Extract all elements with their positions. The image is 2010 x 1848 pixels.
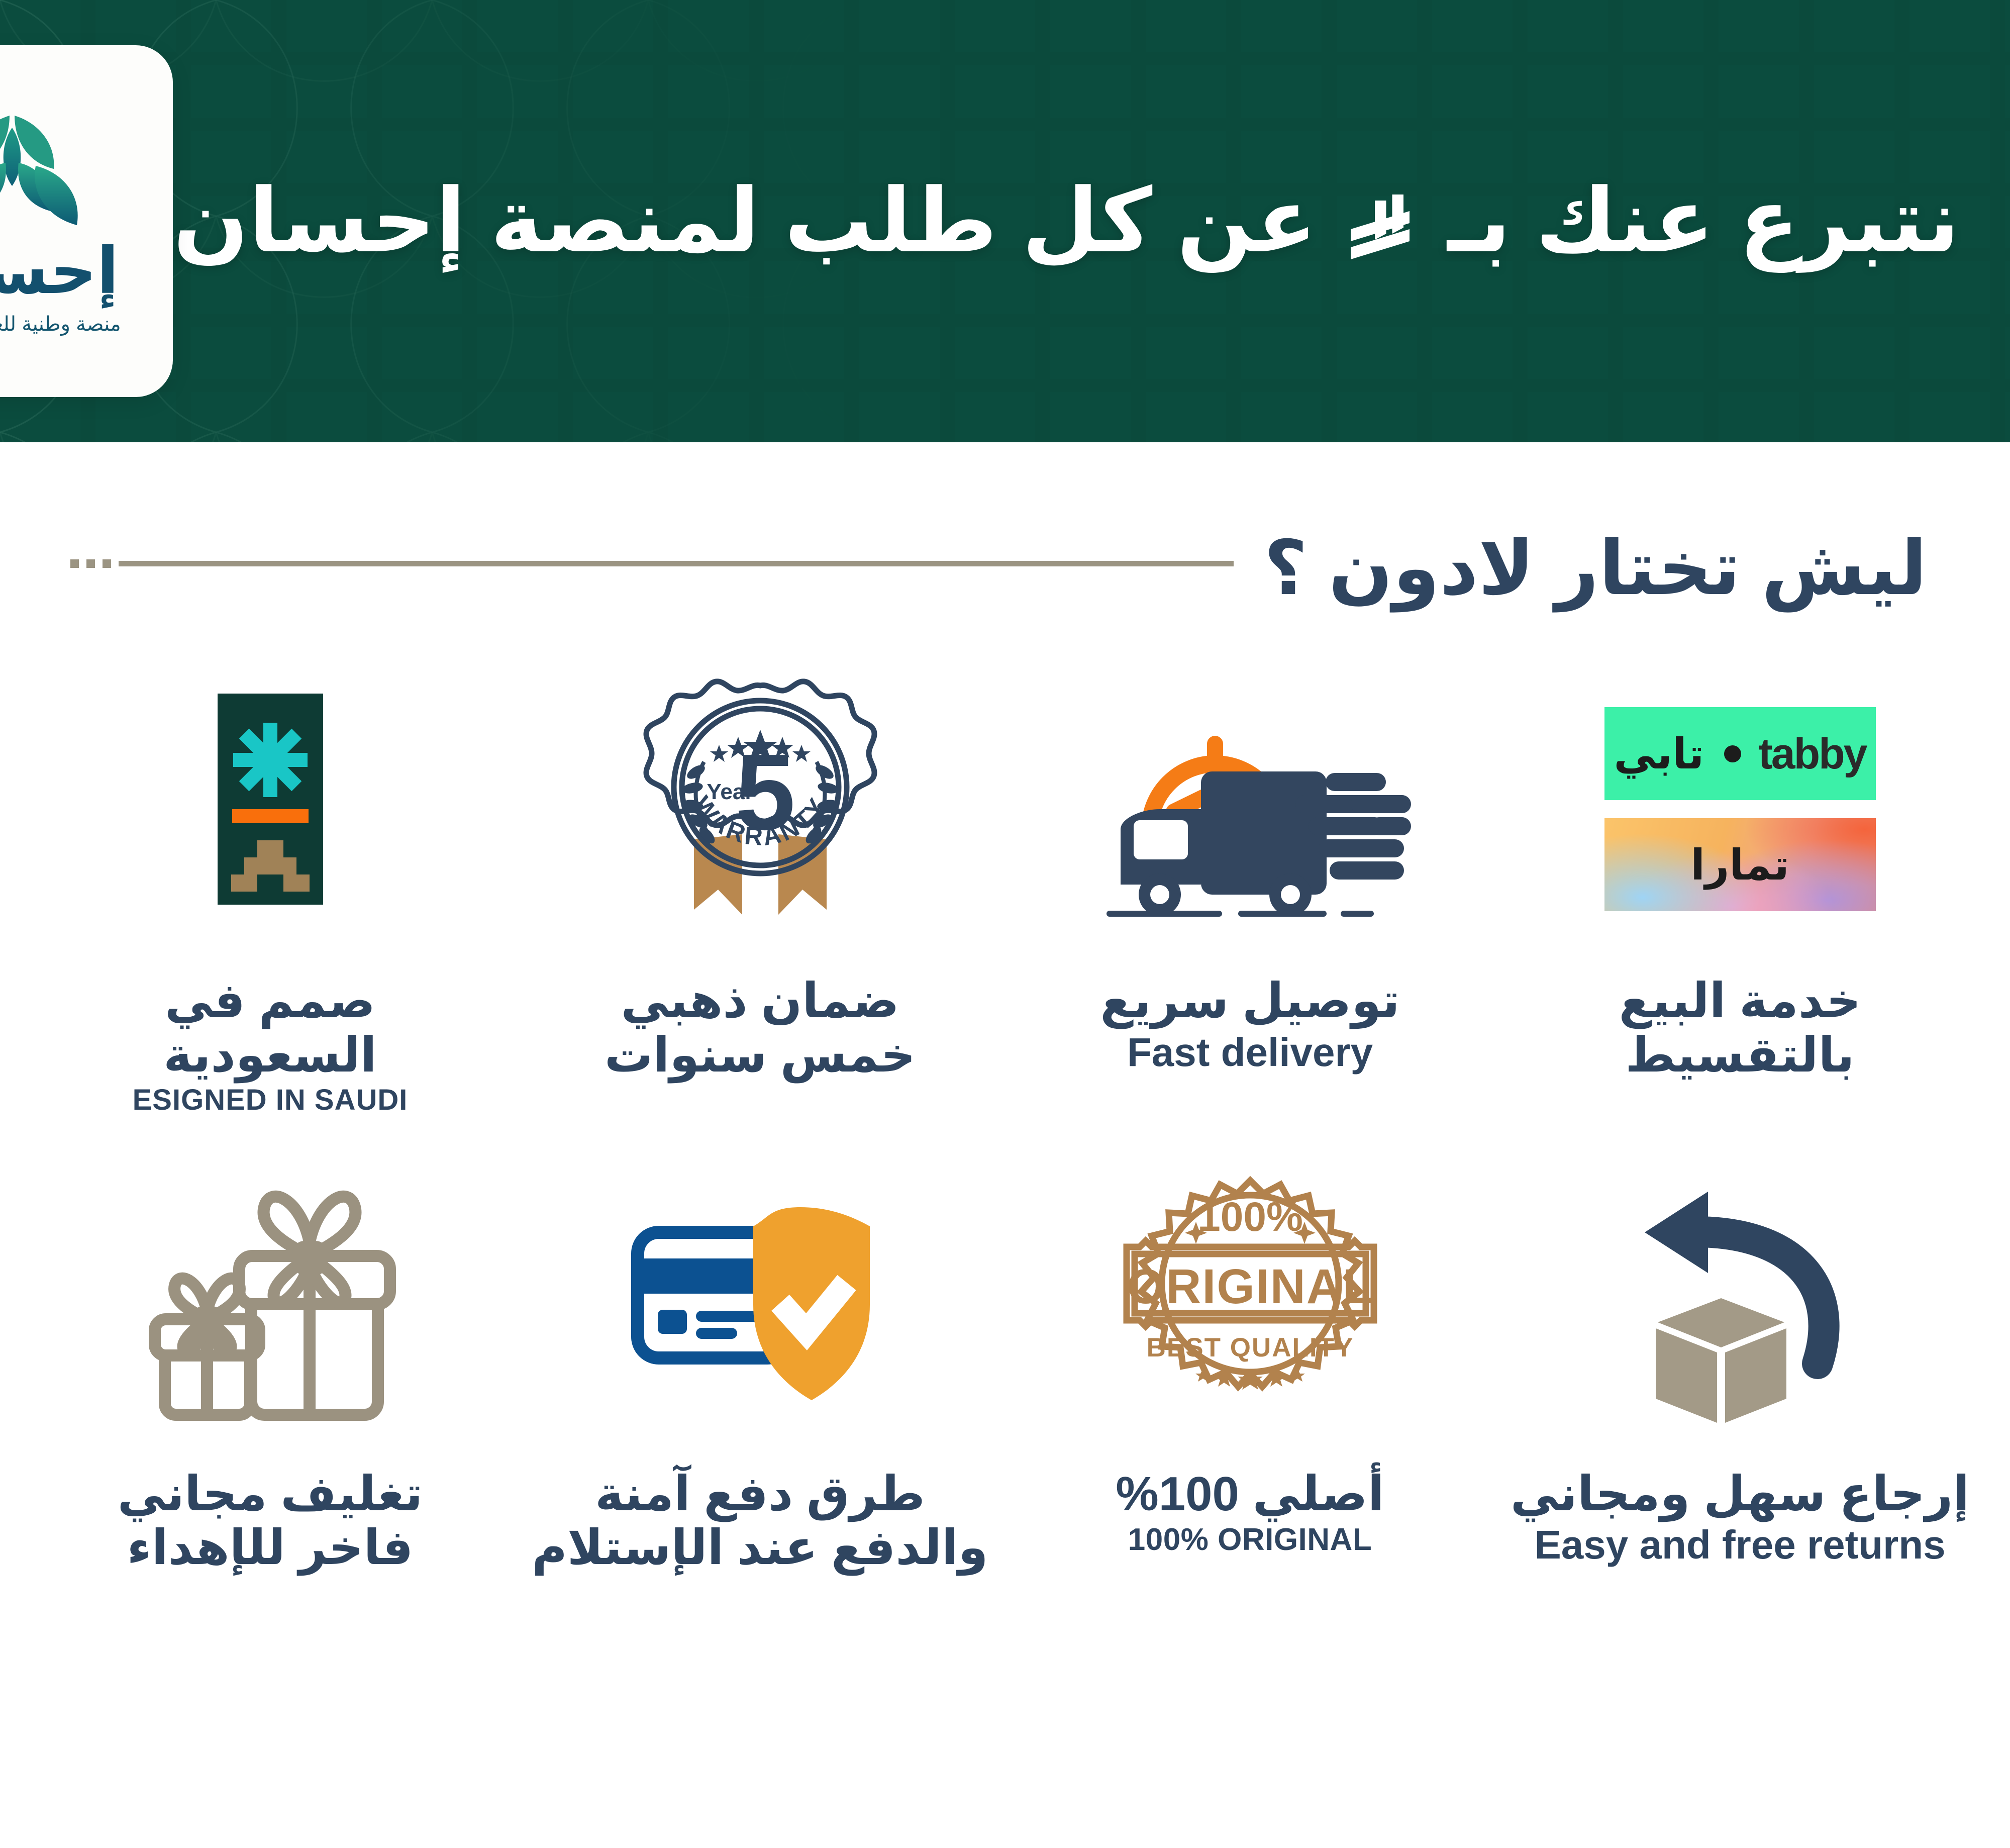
tamara-arabic-label: تمارا: [1690, 844, 1789, 886]
rule-dash-icon: [86, 559, 95, 568]
rule-dash-icon: [103, 559, 111, 568]
feature-label-ar: توصيل سريع: [1100, 974, 1399, 1028]
tabby-latin-label: tabby: [1758, 732, 1866, 775]
feature-free-gift-wrap[interactable]: تغليف مجاني فاخر للإهداء: [28, 1146, 513, 1575]
feature-label-en: 100% ORIGINAL: [1116, 1523, 1384, 1557]
feature-label-ar: تغليف مجاني فاخر للإهداء: [118, 1467, 423, 1575]
section-heading: ليش تختار لادون ؟: [0, 442, 2010, 606]
tamara-badge: تمارا: [1604, 818, 1876, 911]
tabby-badge: tabby تابي: [1604, 707, 1876, 800]
feature-golden-warranty[interactable]: 5 Year WARRANTY ضمان ذهبي خمس سنوات: [518, 653, 1002, 1116]
ehsan-wordmark: إحسان: [0, 239, 119, 304]
rule-line: [119, 561, 1234, 566]
return-box-arrow-icon: [1610, 1146, 1871, 1458]
feature-secure-payments[interactable]: طرق دفع آمنة والدفع عند الإستلام: [518, 1146, 1002, 1575]
feature-label-ar: خدمة البيع بالتقسيط: [1619, 974, 1861, 1082]
stamp-bottom-text: BEST QUALITY: [1146, 1333, 1354, 1363]
banner-headline-part2: عن كل طلب لمنصة إحسان: [173, 172, 1317, 270]
banner-headline: نتبرع عنك بـ عن كل طلب لمنصة إحسان: [173, 175, 1980, 268]
ehsan-leaf-petals-icon: [0, 107, 95, 232]
tabby-dot-icon: [1724, 745, 1741, 762]
designed-in-saudi-logo-icon: [170, 653, 371, 965]
features-grid: tabby تابي تمارا خدمة البيع بالتقسيط: [0, 606, 2010, 1595]
feature-label-en: Fast delivery: [1100, 1030, 1399, 1075]
feature-installments[interactable]: tabby تابي تمارا خدمة البيع بالتقسيط: [1497, 653, 1982, 1116]
saudi-riyal-icon: [1345, 190, 1420, 265]
original-quality-stamp-icon: 100% ORIGINAL BEST QUALITY: [1110, 1146, 1391, 1458]
feature-label-en: Easy and free returns: [1511, 1523, 1969, 1567]
credit-card-shield-check-icon: [620, 1146, 901, 1458]
promo-banner: نتبرع عنك بـ عن كل طلب لمنصة إحسان: [0, 0, 2010, 442]
delivery-truck-clock-icon: [1089, 653, 1411, 965]
feature-free-returns[interactable]: إرجاع سهل ومجاني Easy and free returns: [1497, 1146, 1982, 1575]
five-year-warranty-badge-icon: 5 Year WARRANTY: [620, 653, 901, 965]
feature-label-ar: أصلي 100%: [1116, 1467, 1384, 1521]
feature-label-ar: إرجاع سهل ومجاني: [1511, 1467, 1969, 1521]
ehsan-tagline: منصة وطنية للعمل الخيري: [0, 313, 121, 336]
feature-label-en: ESIGNED IN SAUDI: [133, 1084, 408, 1116]
heading-decorative-rule: [70, 559, 1234, 577]
feature-label-ar: صمم في السعودية: [133, 974, 408, 1082]
rule-dash-icon: [70, 559, 79, 568]
tabby-arabic-label: تابي: [1614, 733, 1704, 775]
feature-original-100[interactable]: 100% ORIGINAL BEST QUALITY أصلي 100% 100…: [1008, 1146, 1492, 1575]
bnpl-badges-icon: tabby تابي تمارا: [1604, 653, 1876, 965]
stamp-main-text: ORIGINAL: [1127, 1259, 1373, 1314]
feature-label-ar: ضمان ذهبي خمس سنوات: [605, 974, 916, 1082]
ehsan-logo-card: إحسان منصة وطنية للعمل الخيري: [0, 45, 173, 397]
page-title: ليش تختار لادون ؟: [1264, 530, 1927, 606]
feature-label-ar: طرق دفع آمنة والدفع عند الإستلام: [532, 1467, 988, 1575]
banner-headline-part1: نتبرع عنك بـ: [1448, 172, 1960, 270]
feature-fast-delivery[interactable]: توصيل سريع Fast delivery: [1008, 653, 1492, 1116]
stamp-top-text: 100%: [1197, 1194, 1303, 1240]
feature-designed-in-saudi[interactable]: صمم في السعودية ESIGNED IN SAUDI: [28, 653, 513, 1116]
gift-boxes-icon: [135, 1146, 406, 1458]
